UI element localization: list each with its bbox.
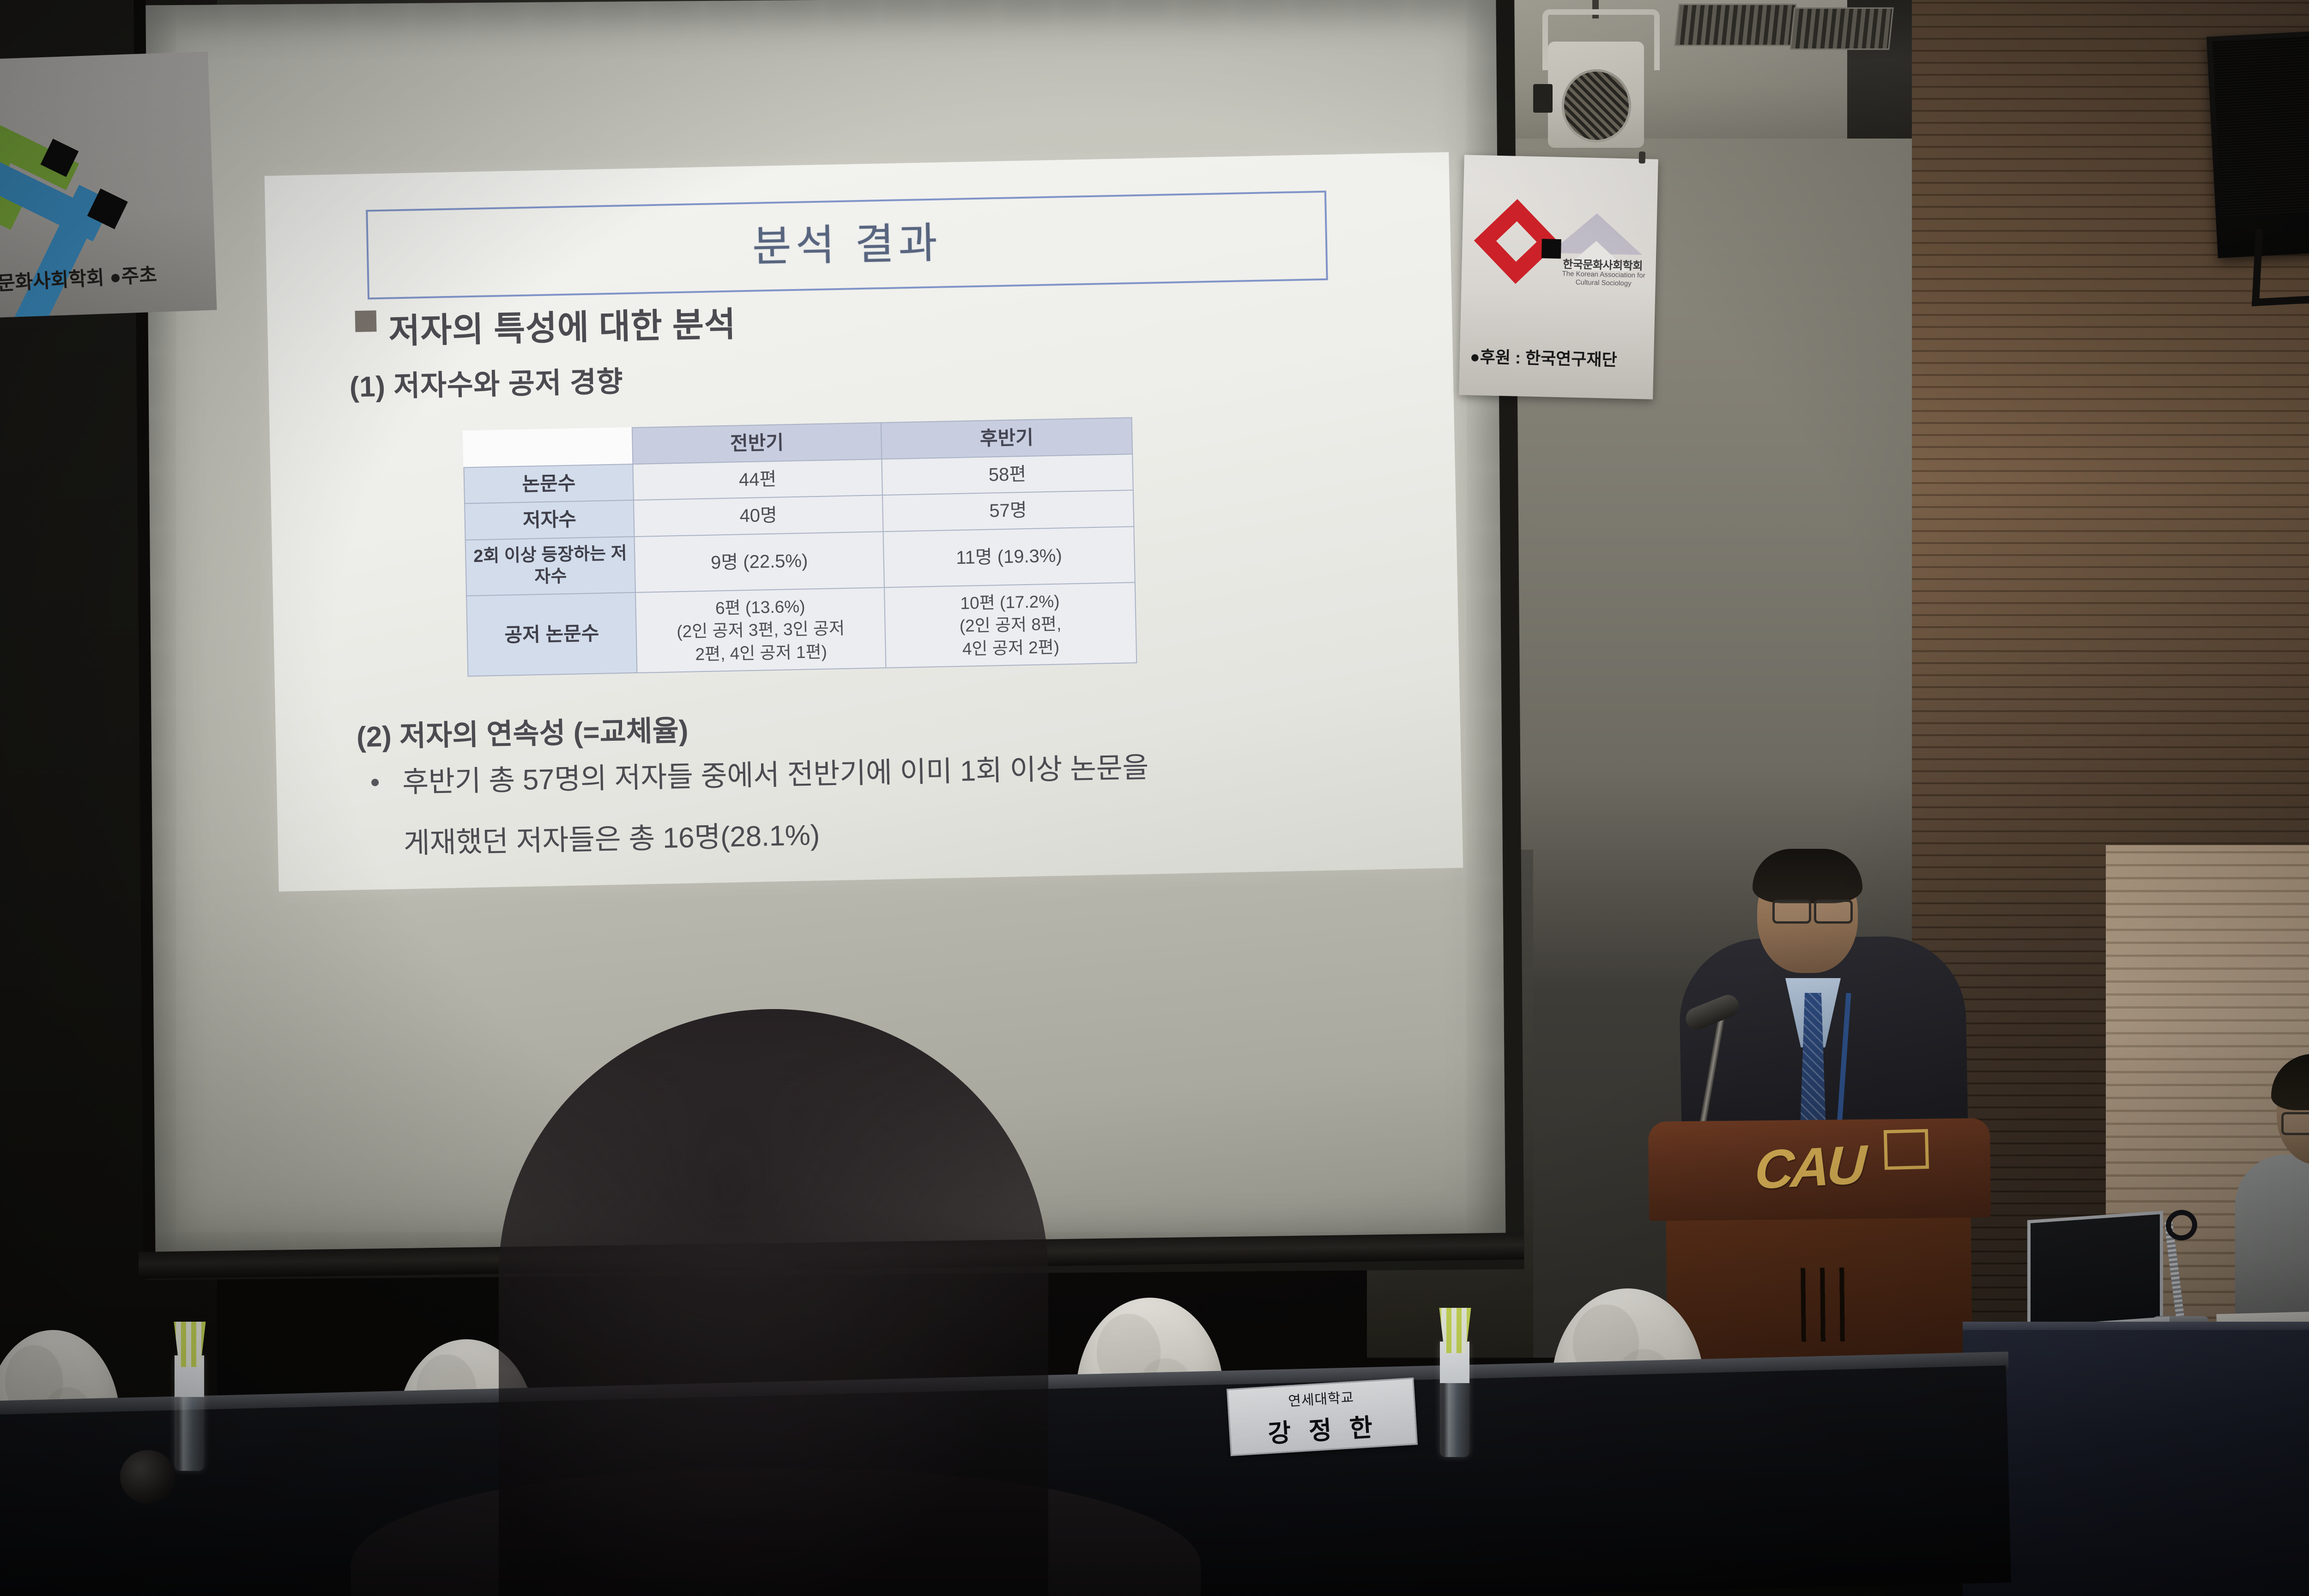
slide-section-heading: 저자의 특성에 대한 분석	[388, 296, 736, 353]
staff-torso	[2235, 1155, 2309, 1339]
left-banner-text: 국문화사회학회 ●주초	[0, 255, 217, 297]
slide-title-box: 분석 결과	[366, 191, 1328, 300]
speaker-grille	[2212, 33, 2309, 216]
table-cell: 57명	[882, 490, 1134, 531]
table-cell: 6편 (13.6%) (2인 공저 3편, 3인 공저 2편, 4인 공저 1편…	[635, 587, 886, 673]
banner-pin-icon	[1639, 151, 1646, 163]
square-bullet-icon	[355, 310, 377, 332]
slide-subheading-1: (1) 저자수와 공저 경향	[349, 358, 623, 405]
spotlight-lens	[1562, 69, 1631, 142]
ceiling-vent-icon	[1674, 4, 1797, 46]
right-banner-sponsor-text: ●후원 : 한국연구재단	[1470, 344, 1655, 372]
nameplate-organization: 연세대학교	[1287, 1385, 1354, 1410]
presentation-slide: 분석 결과 저자의 특성에 대한 분석 (1) 저자수와 공저 경향 전반기 후…	[265, 152, 1463, 891]
podium-logo-square-icon	[1884, 1129, 1929, 1170]
presenter-hair	[1753, 849, 1862, 903]
podium-cau-logo: CAU	[1753, 1133, 1865, 1202]
handheld-microphone-icon	[120, 1450, 175, 1504]
podium-vent-slots	[1801, 1267, 1857, 1342]
spotlight-knob	[1533, 84, 1553, 113]
speaker-bracket	[2252, 223, 2309, 306]
photo-scene: 분석 결과 저자의 특성에 대한 분석 (1) 저자수와 공저 경향 전반기 후…	[0, 0, 2309, 1596]
right-banner: 한국문화사회학회 The Korean Association for Cult…	[1459, 155, 1658, 399]
table-col-header-2: 후반기	[881, 417, 1132, 459]
ceiling-vent-icon	[1789, 7, 1894, 50]
association-name-english: The Korean Association for Cultural Soci…	[1554, 270, 1654, 289]
left-banner: 국문화사회학회 ●주초	[0, 51, 217, 318]
table-cell: 44편	[633, 459, 882, 500]
side-table	[1963, 1330, 2309, 1596]
table-cell: 58편	[882, 454, 1133, 495]
presenter-glasses-icon	[1814, 900, 1853, 924]
slide-title: 분석 결과	[752, 222, 942, 268]
water-bottle	[1440, 1342, 1469, 1457]
nameplate-name: 강 정 한	[1267, 1406, 1379, 1449]
table-row-header: 2회 이상 등장하는 저자수	[465, 536, 636, 595]
slide-body-line-2: 게재했던 저자들은 총 16명(28.1%)	[403, 811, 820, 861]
dot-bullet-icon	[371, 779, 379, 786]
staff-glasses-icon	[2281, 1112, 2309, 1135]
nameplate: 연세대학교 강 정 한	[1227, 1378, 1418, 1457]
slide-subheading-2: (2) 저자의 연속성 (=교체율)	[356, 707, 689, 755]
table-cell: 10편 (17.2%) (2인 공저 8편, 4인 공저 2편)	[884, 582, 1137, 668]
slide-body-line-1: 후반기 총 57명의 저자들 중에서 전반기에 이미 1회 이상 논문을	[402, 744, 1149, 800]
table-cell: 11명 (19.3%)	[883, 526, 1135, 587]
table-corner-cell	[463, 428, 633, 467]
table-row-header: 저자수	[465, 500, 635, 540]
analysis-table: 전반기 후반기 논문수 44편 58편 저자수 40명 57명 2회 이상 등장…	[463, 417, 1137, 677]
table-cell: 40명	[634, 495, 883, 536]
table-row-header: 논문수	[464, 464, 634, 504]
table-row: 공저 논문수 6편 (13.6%) (2인 공저 3편, 3인 공저 2편, 4…	[466, 582, 1136, 677]
water-bottle	[175, 1355, 204, 1471]
table-row-header: 공저 논문수	[466, 592, 637, 676]
presenter-glasses-icon	[1772, 900, 1811, 924]
audience-head-silhouette	[499, 1009, 1048, 1596]
table-col-header-1: 전반기	[632, 423, 882, 464]
table-cell: 9명 (22.5%)	[635, 532, 884, 592]
